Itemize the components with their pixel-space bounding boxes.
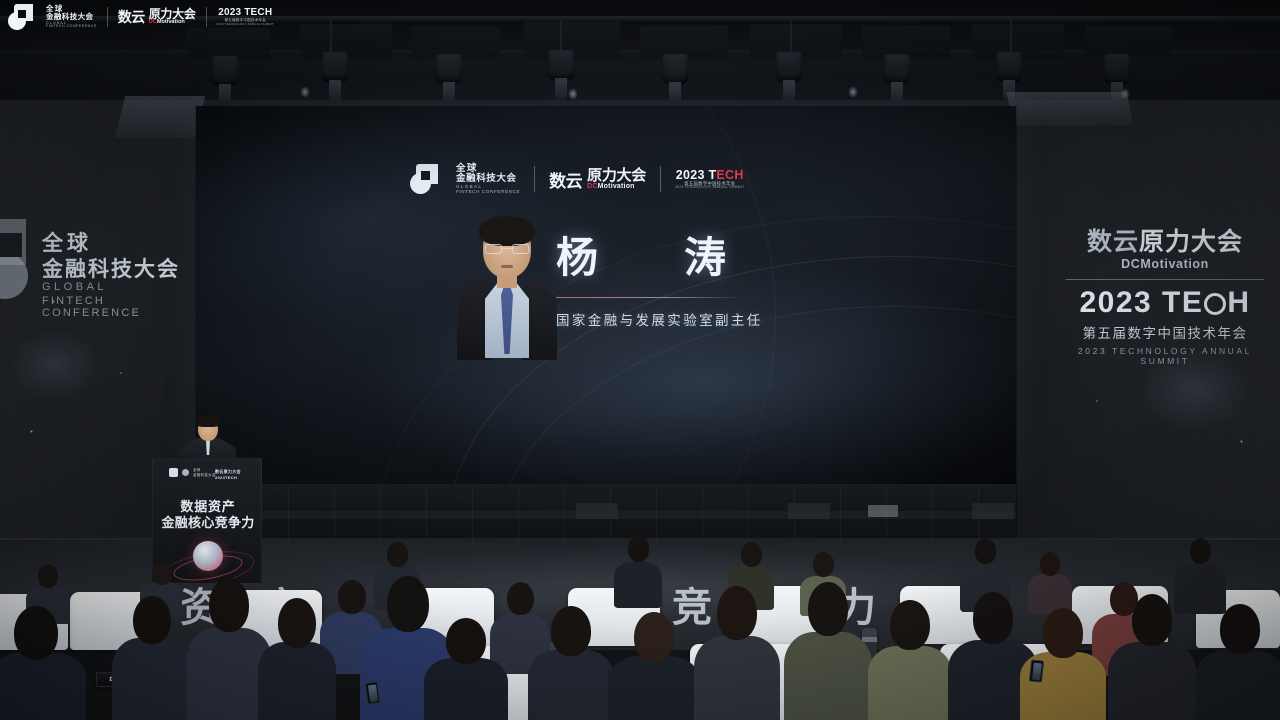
right-wall-line3-a: 2023 TE (1079, 286, 1203, 319)
screen-vignette (196, 106, 1016, 490)
at-swirl-icon (1204, 293, 1226, 315)
watermark-year-logo: 2023 TECH 第五届数字中国技术年会 2023 TECHNOLOGY AN… (217, 8, 274, 25)
wall-star (1240, 440, 1243, 443)
right-wall-line1: 数云原力大会 (1060, 228, 1270, 256)
right-wall-line1-b: 原力大会 (1139, 228, 1243, 256)
person-body (1108, 642, 1196, 720)
stage-light (1104, 54, 1130, 84)
light-glow (568, 88, 578, 100)
apron-vent-light (868, 505, 898, 517)
person-body (694, 636, 780, 720)
stage-light (322, 52, 348, 82)
watermark-dcm-dc: DC (149, 19, 157, 25)
wall-highlight-right (1006, 92, 1133, 126)
watermark-year-line3: 2023 TECHNOLOGY ANNUAL SUMMIT (217, 23, 274, 26)
person-body (424, 658, 508, 720)
light-glow (848, 86, 858, 98)
audience-member (784, 582, 872, 720)
person-head (387, 542, 408, 567)
stage-light (662, 54, 688, 84)
right-wall-line1-a: 数云 (1087, 228, 1139, 256)
ceiling-panel (186, 28, 270, 58)
person-head (973, 592, 1013, 644)
right-wall-line5: 2023 TECHNOLOGY ANNUAL SUMMIT (1060, 346, 1270, 366)
person-body (1196, 650, 1280, 720)
person-head (975, 538, 996, 564)
audience-member (608, 612, 700, 720)
person-head (741, 542, 762, 567)
person-head (813, 552, 834, 577)
audience-member (528, 606, 614, 720)
person-body (112, 638, 192, 720)
watermark-dcm-logo: 数云 原力大会 DCMotivation (118, 7, 196, 27)
person-head (1220, 604, 1260, 654)
watermark-gftc-text: 全球 金融科技大会 GLOBAL FINTECH CONFERENCE (46, 5, 97, 29)
right-wall-line3: 2023 TEH (1060, 287, 1270, 319)
apron-vent (972, 503, 1014, 519)
right-wall-line3-b: H (1227, 286, 1250, 319)
broadcast-watermark: 全球 金融科技大会 GLOBAL FINTECH CONFERENCE 数云 原… (8, 4, 274, 30)
person-head (551, 606, 591, 656)
stage-light (776, 52, 802, 82)
audience-member (1196, 604, 1280, 720)
stage-light (212, 56, 238, 86)
stage-light (996, 52, 1022, 82)
smartphone (1029, 659, 1044, 682)
person-head (387, 576, 429, 632)
person-head (38, 564, 58, 588)
watermark-dcm-cn: 数云 (118, 7, 145, 27)
podium-logo-mark-icon (169, 468, 178, 477)
person-head (152, 562, 172, 585)
podium-logo-cn2: 金融科技大会 (193, 473, 216, 477)
person-head (1040, 552, 1060, 576)
person-head (634, 612, 674, 662)
watermark-cn-line2: 金融科技大会 (46, 13, 97, 21)
led-screen: 全球 金融科技大会 GLOBAL FINTECH CONFERENCE 数云 原… (196, 106, 1016, 490)
podium-logo-text: 全球 金融科技大会 (193, 468, 216, 476)
left-wall-en-line1: GLOBAL (42, 281, 107, 293)
wall-star (120, 372, 122, 374)
person-head (14, 606, 58, 660)
person-head (628, 536, 649, 562)
right-wall-line2: DCMotivation (1060, 257, 1270, 271)
person-head (278, 598, 316, 648)
audience-member (112, 596, 192, 720)
person-head (1132, 594, 1172, 646)
watermark-dcm-sub: DCMotivation (149, 20, 196, 26)
person-body (0, 652, 86, 720)
right-wall-branding: 数云原力大会 DCMotivation 2023 TEH 第五届数字中国技术年会… (1060, 228, 1270, 366)
person-head (1190, 538, 1211, 564)
podium-logo-right: 数云原力大会 2023TECH (215, 469, 261, 480)
stage-light (548, 50, 574, 80)
podium-logo: 全球 金融科技大会 (169, 468, 216, 477)
audience-member (694, 586, 780, 720)
gftc-logo-mark-icon (0, 219, 38, 299)
watermark-divider (107, 7, 108, 27)
person-body (784, 632, 872, 720)
audience-member (868, 600, 952, 720)
stage-light (884, 54, 910, 84)
apron-vent (788, 503, 830, 519)
podium-logo-circle-icon (182, 469, 189, 476)
audience-area: 中国民生银行 中国进出口银行 中信银行 (0, 520, 1280, 720)
audience-member (1108, 594, 1196, 720)
person-head (133, 596, 171, 644)
person-body (614, 562, 662, 608)
person-head (446, 618, 486, 664)
ceiling-panel (1086, 26, 1172, 56)
person-head (890, 600, 930, 650)
person-body (258, 642, 336, 720)
person-body (868, 646, 952, 720)
person-head (1043, 608, 1083, 658)
speaker-hair (196, 416, 220, 427)
left-wall-cn-line2: 金融科技大会 (42, 253, 180, 283)
wall-highlight-left (115, 96, 205, 138)
watermark-divider (206, 7, 207, 27)
wall-star (1096, 400, 1098, 402)
right-wall-line4: 第五届数字中国技术年会 (1060, 322, 1270, 342)
audience-member (614, 536, 662, 606)
audience-member (0, 606, 86, 720)
person-body (528, 650, 614, 720)
light-glow (300, 86, 310, 98)
right-wall-divider (1066, 279, 1264, 280)
watermark-dcm-mo: Motivation (157, 19, 185, 25)
person-head (209, 578, 249, 632)
person-head (717, 586, 757, 640)
conference-stage-photo: 全球 金融科技大会 GLOBAL FINTECH CONFERENCE 数云原力… (0, 0, 1280, 720)
gftc-logo-mark-icon (8, 4, 36, 30)
audience-member (258, 598, 336, 720)
person-head (808, 582, 848, 636)
apron-vent (576, 503, 618, 519)
watermark-en-line2: FINTECH CONFERENCE (46, 25, 97, 29)
watermark-dcm-right: 原力大会 DCMotivation (149, 8, 196, 26)
wall-star (30, 430, 33, 433)
person-body (608, 656, 700, 720)
left-wall-en-line2: FINTECH CONFERENCE (42, 295, 184, 319)
audience-member (424, 618, 508, 720)
wall-nebula (10, 330, 100, 400)
stage-light (436, 54, 462, 84)
